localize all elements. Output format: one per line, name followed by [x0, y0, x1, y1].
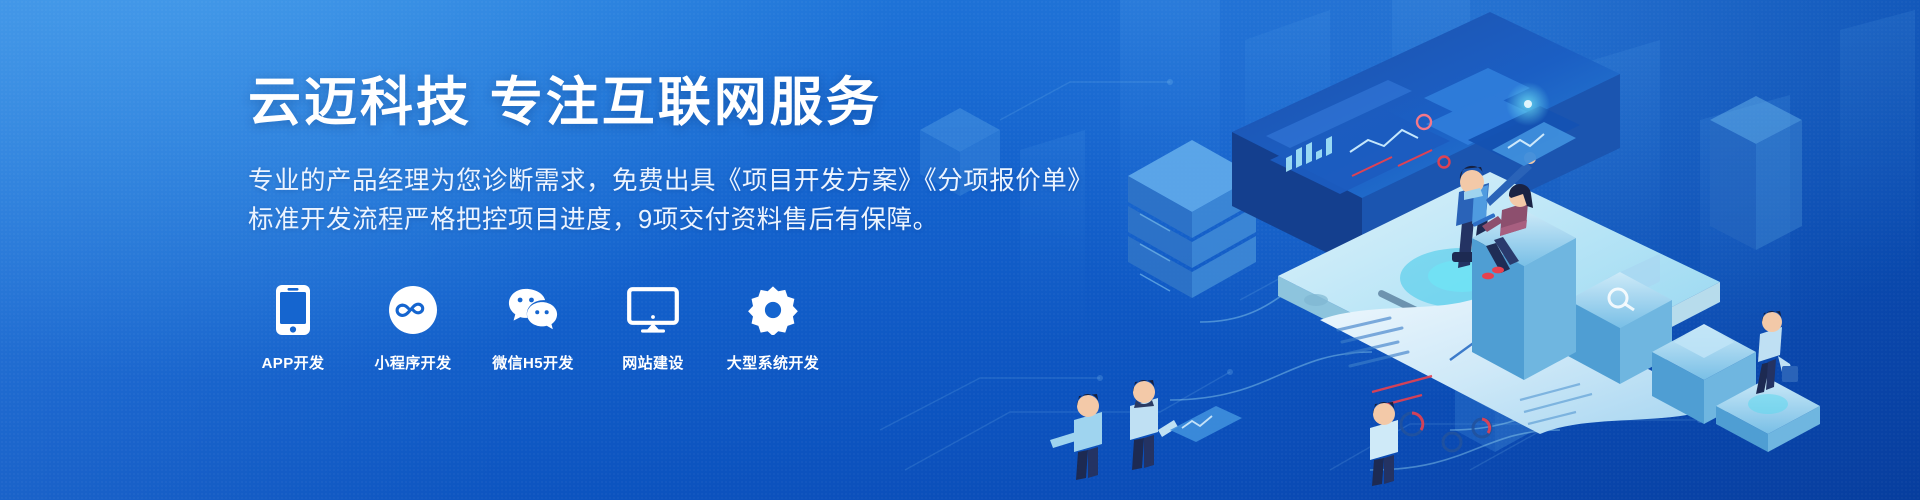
service-item-miniprogram[interactable]: 小程序开发: [368, 284, 458, 373]
service-label: 小程序开发: [374, 352, 451, 373]
banner-subtitle: 专业的产品经理为您诊断需求，免费出具《项目开发方案》《分项报价单》 标准开发流程…: [248, 162, 1093, 240]
banner-headline: 云迈科技 专注互联网服务: [248, 74, 1093, 132]
service-label: 网站建设: [622, 352, 684, 373]
smartphone-icon: [267, 284, 319, 336]
service-label: APP开发: [262, 352, 325, 373]
person-walking: [1756, 311, 1798, 394]
service-label: 大型系统开发: [727, 352, 819, 373]
banner-content: 云迈科技 专注互联网服务 专业的产品经理为您诊断需求，免费出具《项目开发方案》《…: [248, 74, 1093, 373]
miniprogram-icon: [387, 284, 439, 336]
person-group-foreground: [1050, 380, 1398, 486]
service-item-app[interactable]: APP开发: [248, 284, 338, 373]
gear-icon: [747, 284, 799, 336]
service-item-wechat-h5[interactable]: 微信H5开发: [488, 284, 578, 373]
subtitle-line-1: 专业的产品经理为您诊断需求，免费出具《项目开发方案》《分项报价单》: [248, 162, 1093, 201]
service-item-website[interactable]: 网站建设: [608, 284, 698, 373]
service-item-large-system[interactable]: 大型系统开发: [728, 284, 818, 373]
hero-banner: 云迈科技 专注互联网服务 专业的产品经理为您诊断需求，免费出具《项目开发方案》《…: [0, 0, 1920, 500]
service-list: APP开发 小程序开发: [248, 284, 1093, 373]
wechat-icon: [507, 284, 559, 336]
service-label: 微信H5开发: [492, 352, 574, 373]
monitor-icon: [627, 284, 679, 336]
subtitle-line-2: 标准开发流程严格把控项目进度，9项交付资料售后有保障。: [248, 201, 1093, 240]
isometric-tech-illustration: [1020, 0, 1920, 500]
